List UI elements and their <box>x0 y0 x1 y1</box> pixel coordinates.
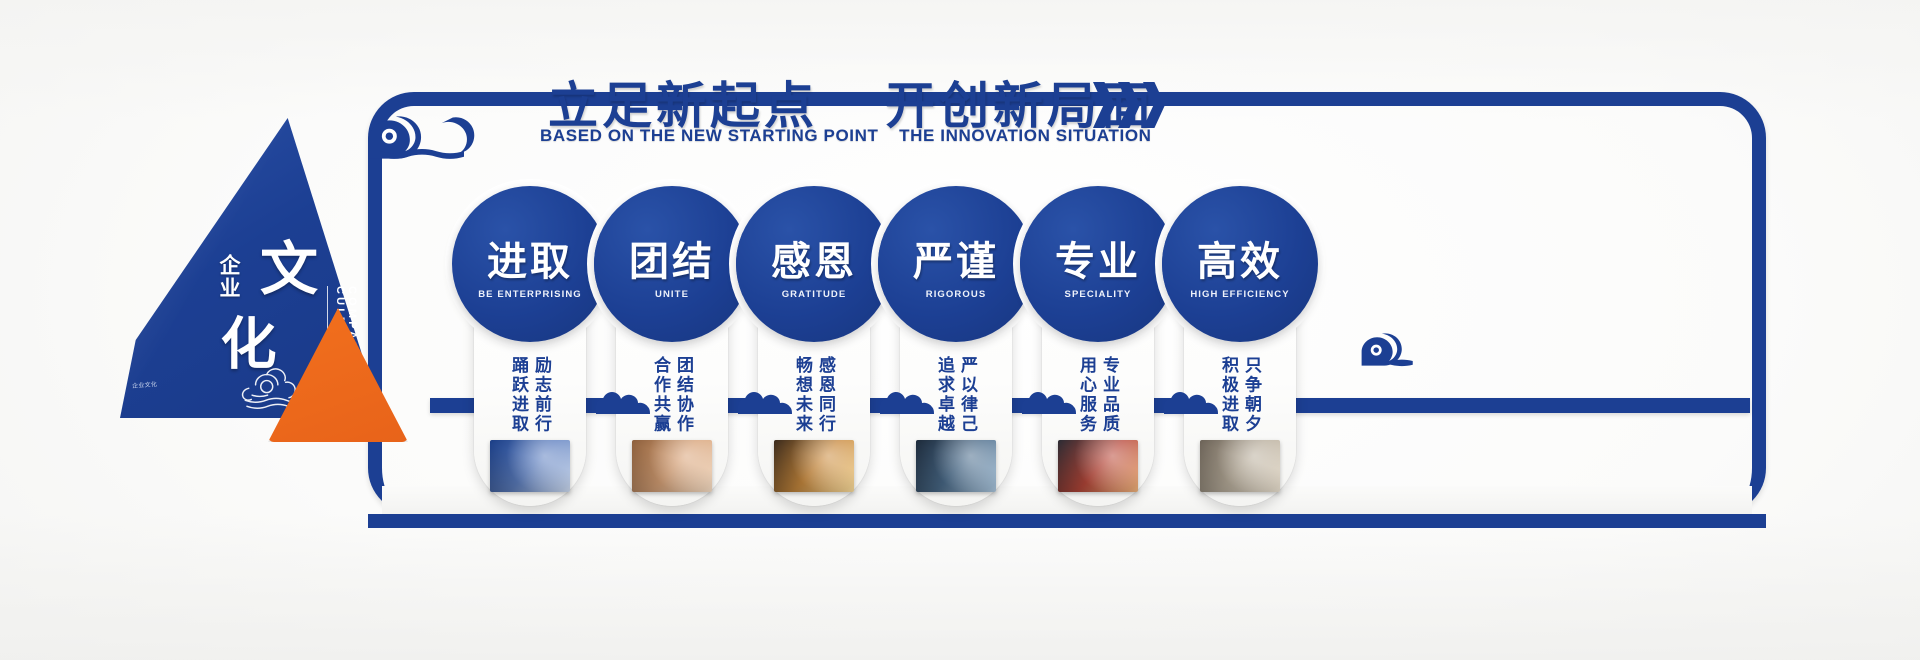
logo-cn-small: 企业 <box>216 254 241 300</box>
pillar-title-cn: 进取 <box>487 229 573 287</box>
chevron-right-icon <box>1143 82 1165 128</box>
pillar-capsule-1[interactable]: 进取 BE ENTERPRISING 励志前行 踊跃进取 <box>474 196 586 506</box>
cloud-cap-ornament-icon <box>592 392 664 414</box>
chevron-group <box>1093 82 1165 128</box>
logo-cn-big-hua: 化 <box>208 314 278 370</box>
pillar-circle-badge-4[interactable]: 严谨 RIGOROUS <box>878 186 1034 342</box>
title-en-part1: BASED ON THE NEW STARTING POINT <box>540 126 878 145</box>
pillar-title-cn: 感恩 <box>771 229 857 287</box>
pillar-capsule-5[interactable]: 专业 SPECIALITY 专业品质 用心服务 <box>1042 196 1154 506</box>
pillar-title-en: UNITE <box>655 289 689 300</box>
pillar-capsule-4[interactable]: 严谨 RIGOROUS 严以律己 追求卓越 <box>900 196 1012 506</box>
pillar-circle-badge-2[interactable]: 团结 UNITE <box>594 186 750 342</box>
pillar-photo <box>916 440 996 492</box>
pillar-circle-badge-3[interactable]: 感恩 GRATITUDE <box>736 186 892 342</box>
pillar-capsule-6[interactable]: 高效 HIGH EFFICIENCY 只争朝夕 积极进取 <box>1184 196 1296 506</box>
culture-wall-scene: 企业 文 化 COMPANY CULTURE 企业文化 <box>0 0 1920 660</box>
pillar-circle-badge-6[interactable]: 高效 HIGH EFFICIENCY <box>1162 186 1318 342</box>
pillar-capsule-2[interactable]: 团结 UNITE 团结协作 合作共赢 <box>616 196 728 506</box>
cloud-swirl-left-icon <box>352 108 492 170</box>
cloud-cap-ornament-icon <box>1018 392 1090 414</box>
pillar-circle-badge-5[interactable]: 专业 SPECIALITY <box>1020 186 1176 342</box>
logo-corner-tag: 企业文化 <box>132 379 158 390</box>
chevron-right-icon <box>1118 82 1140 128</box>
pillar-photo <box>632 440 712 492</box>
chevron-right-icon <box>1093 82 1115 128</box>
title-en-part2: THE INNOVATION SITUATION <box>899 126 1151 145</box>
cloud-cap-ornament-icon <box>876 392 948 414</box>
page-subtitle: BASED ON THE NEW STARTING POINT THE INNO… <box>540 126 1152 146</box>
pillar-title-cn: 团结 <box>629 229 715 287</box>
pillar-title-cn: 严谨 <box>913 229 999 287</box>
pillar-title-en: BE ENTERPRISING <box>478 289 582 300</box>
cloud-cap-ornament-icon <box>734 392 806 414</box>
pillar-title-cn: 专业 <box>1055 229 1141 287</box>
pillar-capsule-3[interactable]: 感恩 GRATITUDE 感恩同行 畅想未来 <box>758 196 870 506</box>
cloud-swirl-right-icon <box>1352 330 1426 372</box>
pillar-title-en: HIGH EFFICIENCY <box>1190 289 1289 300</box>
pillar-photo <box>490 440 570 492</box>
pillar-circle-badge-1[interactable]: 进取 BE ENTERPRISING <box>452 186 608 342</box>
pillar-title-cn: 高效 <box>1197 229 1283 287</box>
pillar-title-en: SPECIALITY <box>1065 289 1132 300</box>
pillar-photo <box>1200 440 1280 492</box>
cloud-cap-ornament-icon <box>1160 392 1232 414</box>
pillar-photo <box>774 440 854 492</box>
logo-cn-big-wen: 文 <box>248 238 318 296</box>
pillar-photo <box>1058 440 1138 492</box>
pillar-title-en: RIGOROUS <box>926 289 987 300</box>
pillar-title-en: GRATITUDE <box>782 289 847 300</box>
